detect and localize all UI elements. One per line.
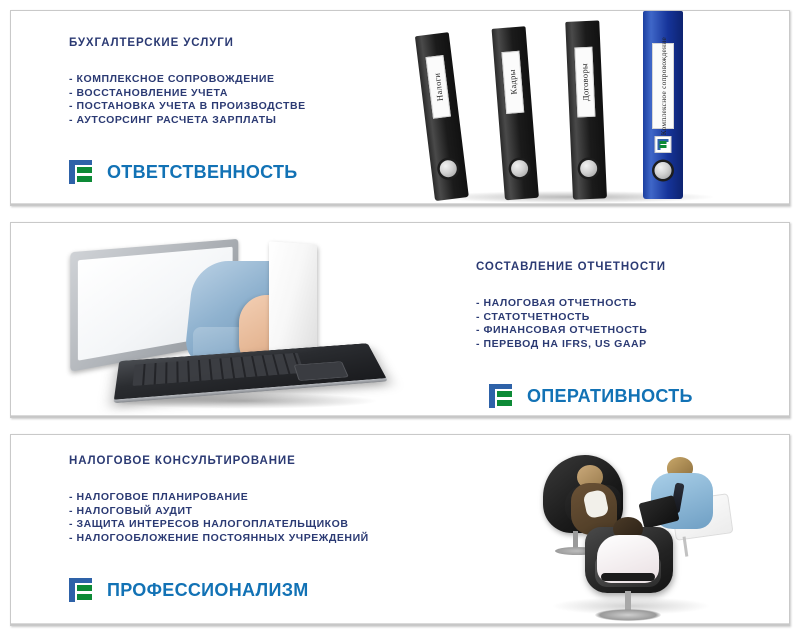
panel-2-slogan: ОПЕРАТИВНОСТЬ: [527, 386, 693, 407]
business-meeting-photo: [511, 441, 751, 621]
list-item: - ПЕРЕВОД НА IFRS, US GAAP: [476, 338, 693, 352]
panel-3-slogan: ПРОФЕССИОНАЛИЗМ: [107, 580, 309, 601]
company-logo-icon: [69, 578, 92, 602]
list-item: - СТАТОТЧЕТНОСТЬ: [476, 311, 693, 325]
list-item: - ФИНАНСОВАЯ ОТЧЕТНОСТЬ: [476, 324, 693, 338]
laptop-keyboard: [133, 353, 305, 386]
panel-1-slogan: ОТВЕТСТВЕННОСТЬ: [107, 162, 298, 183]
list-item: - ПОСТАНОВКА УЧЕТА В ПРОИЗВОДСТВЕ: [69, 100, 306, 114]
panel-2-slogan-row: ОПЕРАТИВНОСТЬ: [489, 384, 693, 408]
list-item: - НАЛОГООБЛОЖЕНИЕ ПОСТОЯННЫХ УЧРЕЖДЕНИЙ: [69, 532, 369, 546]
list-item: - НАЛОГОВАЯ ОТЧЕТНОСТЬ: [476, 297, 693, 311]
binder-spine-label: Кадры: [501, 51, 524, 114]
binder-label-text: Кадры: [507, 69, 519, 95]
list-item: - ВОССТАНОВЛЕНИЕ УЧЕТА: [69, 87, 306, 101]
panel-3-text-block: НАЛОГОВОЕ КОНСУЛЬТИРОВАНИЕ - НАЛОГОВОЕ П…: [69, 455, 369, 602]
list-item: - НАЛОГОВОЕ ПЛАНИРОВАНИЕ: [69, 491, 369, 505]
service-panel-accounting-services[interactable]: БУХГАЛТЕРСКИЕ УСЛУГИ - КОМПЛЕКСНОЕ СОПРО…: [10, 10, 790, 206]
person-blue-shirt-man: [651, 457, 713, 531]
panel-1-slogan-row: ОТВЕТСТВЕННОСТЬ: [69, 160, 306, 184]
company-logo-icon: [655, 136, 672, 153]
company-logo-icon: [69, 160, 92, 184]
service-panel-financial-reporting[interactable]: СОСТАВЛЕНИЕ ОТЧЕТНОСТИ - НАЛОГОВАЯ ОТЧЕТ…: [10, 222, 790, 418]
list-item: - ЗАЩИТА ИНТЕРЕСОВ НАЛОГОПЛАТЕЛЬЩИКОВ: [69, 518, 369, 532]
panel-2-heading: СОСТАВЛЕНИЕ ОТЧЕТНОСТИ: [476, 261, 693, 273]
panel-1-text-block: БУХГАЛТЕРСКИЕ УСЛУГИ - КОМПЛЕКСНОЕ СОПРО…: [69, 37, 306, 184]
binder-dogovory: Договоры: [565, 20, 607, 199]
company-logo-icon: [489, 384, 512, 408]
binder-label-text: Налоги: [432, 72, 445, 101]
binder-ring-hole-icon: [655, 162, 672, 179]
list-item: - АУТСОРСИНГ РАСЧЕТА ЗАРПЛАТЫ: [69, 114, 306, 128]
service-panel-tax-consulting[interactable]: НАЛОГОВОЕ КОНСУЛЬТИРОВАНИЕ - НАЛОГОВОЕ П…: [10, 434, 790, 626]
panel-1-bullet-list: - КОМПЛЕКСНОЕ СОПРОВОЖДЕНИЕ - ВОССТАНОВЛ…: [69, 73, 306, 127]
ring-binders-photo: Налоги Кадры Договоры Комплексное сопров…: [429, 13, 779, 205]
services-banner-page: БУХГАЛТЕРСКИЕ УСЛУГИ - КОМПЛЕКСНОЕ СОПРО…: [0, 0, 800, 642]
list-item: - КОМПЛЕКСНОЕ СОПРОВОЖДЕНИЕ: [69, 73, 306, 87]
binder-ring-hole-icon: [510, 159, 528, 177]
binder-ring-hole-icon: [580, 160, 598, 178]
binder-kompleksnoe-soprovozhdenie: Комплексное сопровождение: [643, 11, 683, 199]
panel-3-bullet-list: - НАЛОГОВОЕ ПЛАНИРОВАНИЕ - НАЛОГОВЫЙ АУД…: [69, 491, 369, 545]
panel-2-text-block: СОСТАВЛЕНИЕ ОТЧЕТНОСТИ - НАЛОГОВАЯ ОТЧЕТ…: [476, 261, 693, 408]
panel-3-slogan-row: ПРОФЕССИОНАЛИЗМ: [69, 578, 369, 602]
binder-label-text: Комплексное сопровождение: [659, 37, 668, 135]
panel-2-bullet-list: - НАЛОГОВАЯ ОТЧЕТНОСТЬ - СТАТОТЧЕТНОСТЬ …: [476, 297, 693, 351]
binder-kadry: Кадры: [492, 26, 539, 200]
binder-spine-label: Комплексное сопровождение: [652, 43, 674, 129]
binder-ring-hole-icon: [439, 159, 458, 178]
panel-3-heading: НАЛОГОВОЕ КОНСУЛЬТИРОВАНИЕ: [69, 455, 369, 467]
binder-nalogi: Налоги: [415, 32, 469, 201]
list-item: - НАЛОГОВЫЙ АУДИТ: [69, 505, 369, 519]
panel-1-heading: БУХГАЛТЕРСКИЕ УСЛУГИ: [69, 37, 306, 49]
binder-spine-label: Налоги: [426, 55, 451, 119]
binder-label-text: Договоры: [579, 63, 591, 102]
laptop-hand-document-photo: [63, 235, 393, 413]
laptop-trackpad: [294, 361, 349, 381]
binder-spine-label: Договоры: [574, 47, 595, 118]
person-white-shirt-man: [597, 517, 659, 579]
